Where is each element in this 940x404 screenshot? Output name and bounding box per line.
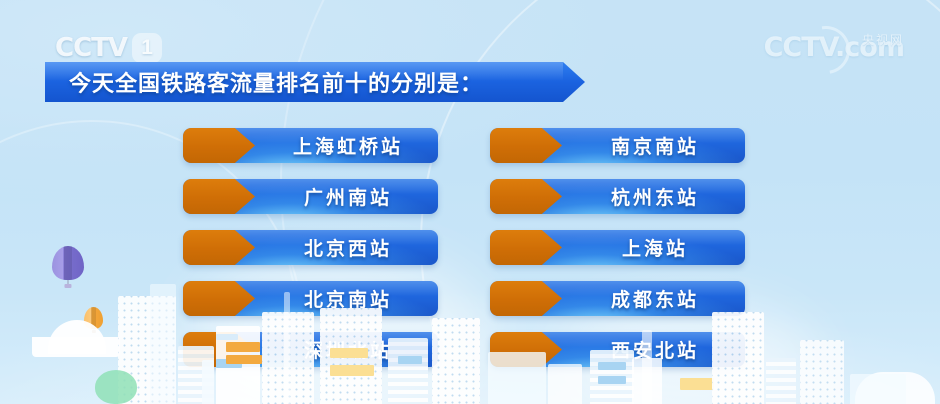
station-name: 上海虹桥站 (255, 128, 438, 163)
station-name: 杭州东站 (562, 179, 745, 214)
rank-arrow-icon (490, 128, 562, 163)
rank-arrow-icon (183, 179, 255, 214)
station-bar[interactable]: 上海站 (490, 230, 745, 265)
station-name: 南京南站 (562, 128, 745, 163)
station-bar[interactable]: 北京西站 (183, 230, 438, 265)
rank-arrow-icon (183, 230, 255, 265)
rank-arrow-icon (183, 128, 255, 163)
station-bar[interactable]: 上海虹桥站 (183, 128, 438, 163)
station-bar[interactable]: 广州南站 (183, 179, 438, 214)
tree-icon (95, 370, 137, 404)
station-name: 上海站 (562, 230, 745, 265)
rank-arrow-icon (490, 179, 562, 214)
city-skyline-illustration (0, 284, 940, 404)
station-name: 北京西站 (255, 230, 438, 265)
station-bar[interactable]: 南京南站 (490, 128, 745, 163)
broadcast-graphic: CCTV 1 央视网 CCTV.com 今天全国铁路客流量排名前十的分别是： 上… (0, 0, 940, 404)
station-bar[interactable]: 杭州东站 (490, 179, 745, 214)
rank-arrow-icon (490, 230, 562, 265)
station-name: 广州南站 (255, 179, 438, 214)
